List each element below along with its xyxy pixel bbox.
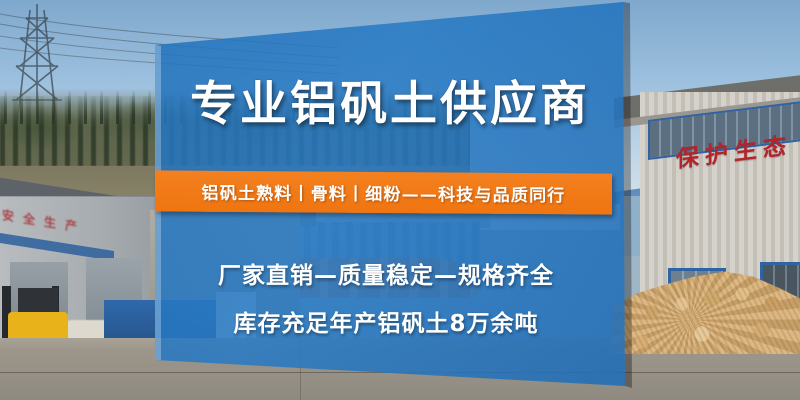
promo-banner: 安全生产 保护生态 专业铝矾土供应商 铝 — [0, 0, 800, 400]
page-title: 专业铝矾土供应商 — [155, 80, 625, 129]
tagline-text: 铝矾土熟料丨骨料丨细粉——科技与品质同行 — [202, 179, 566, 207]
subline-2: 库存充足年产铝矾土8万余吨 — [155, 304, 617, 338]
subline-1: 厂家直销—质量稳定—规格齐全 — [155, 256, 617, 290]
banner-content: 专业铝矾土供应商 铝矾土熟料丨骨料丨细粉——科技与品质同行 厂家直销—质量稳定—… — [155, 24, 625, 400]
tagline-ribbon: 铝矾土熟料丨骨料丨细粉——科技与品质同行 — [155, 170, 612, 214]
